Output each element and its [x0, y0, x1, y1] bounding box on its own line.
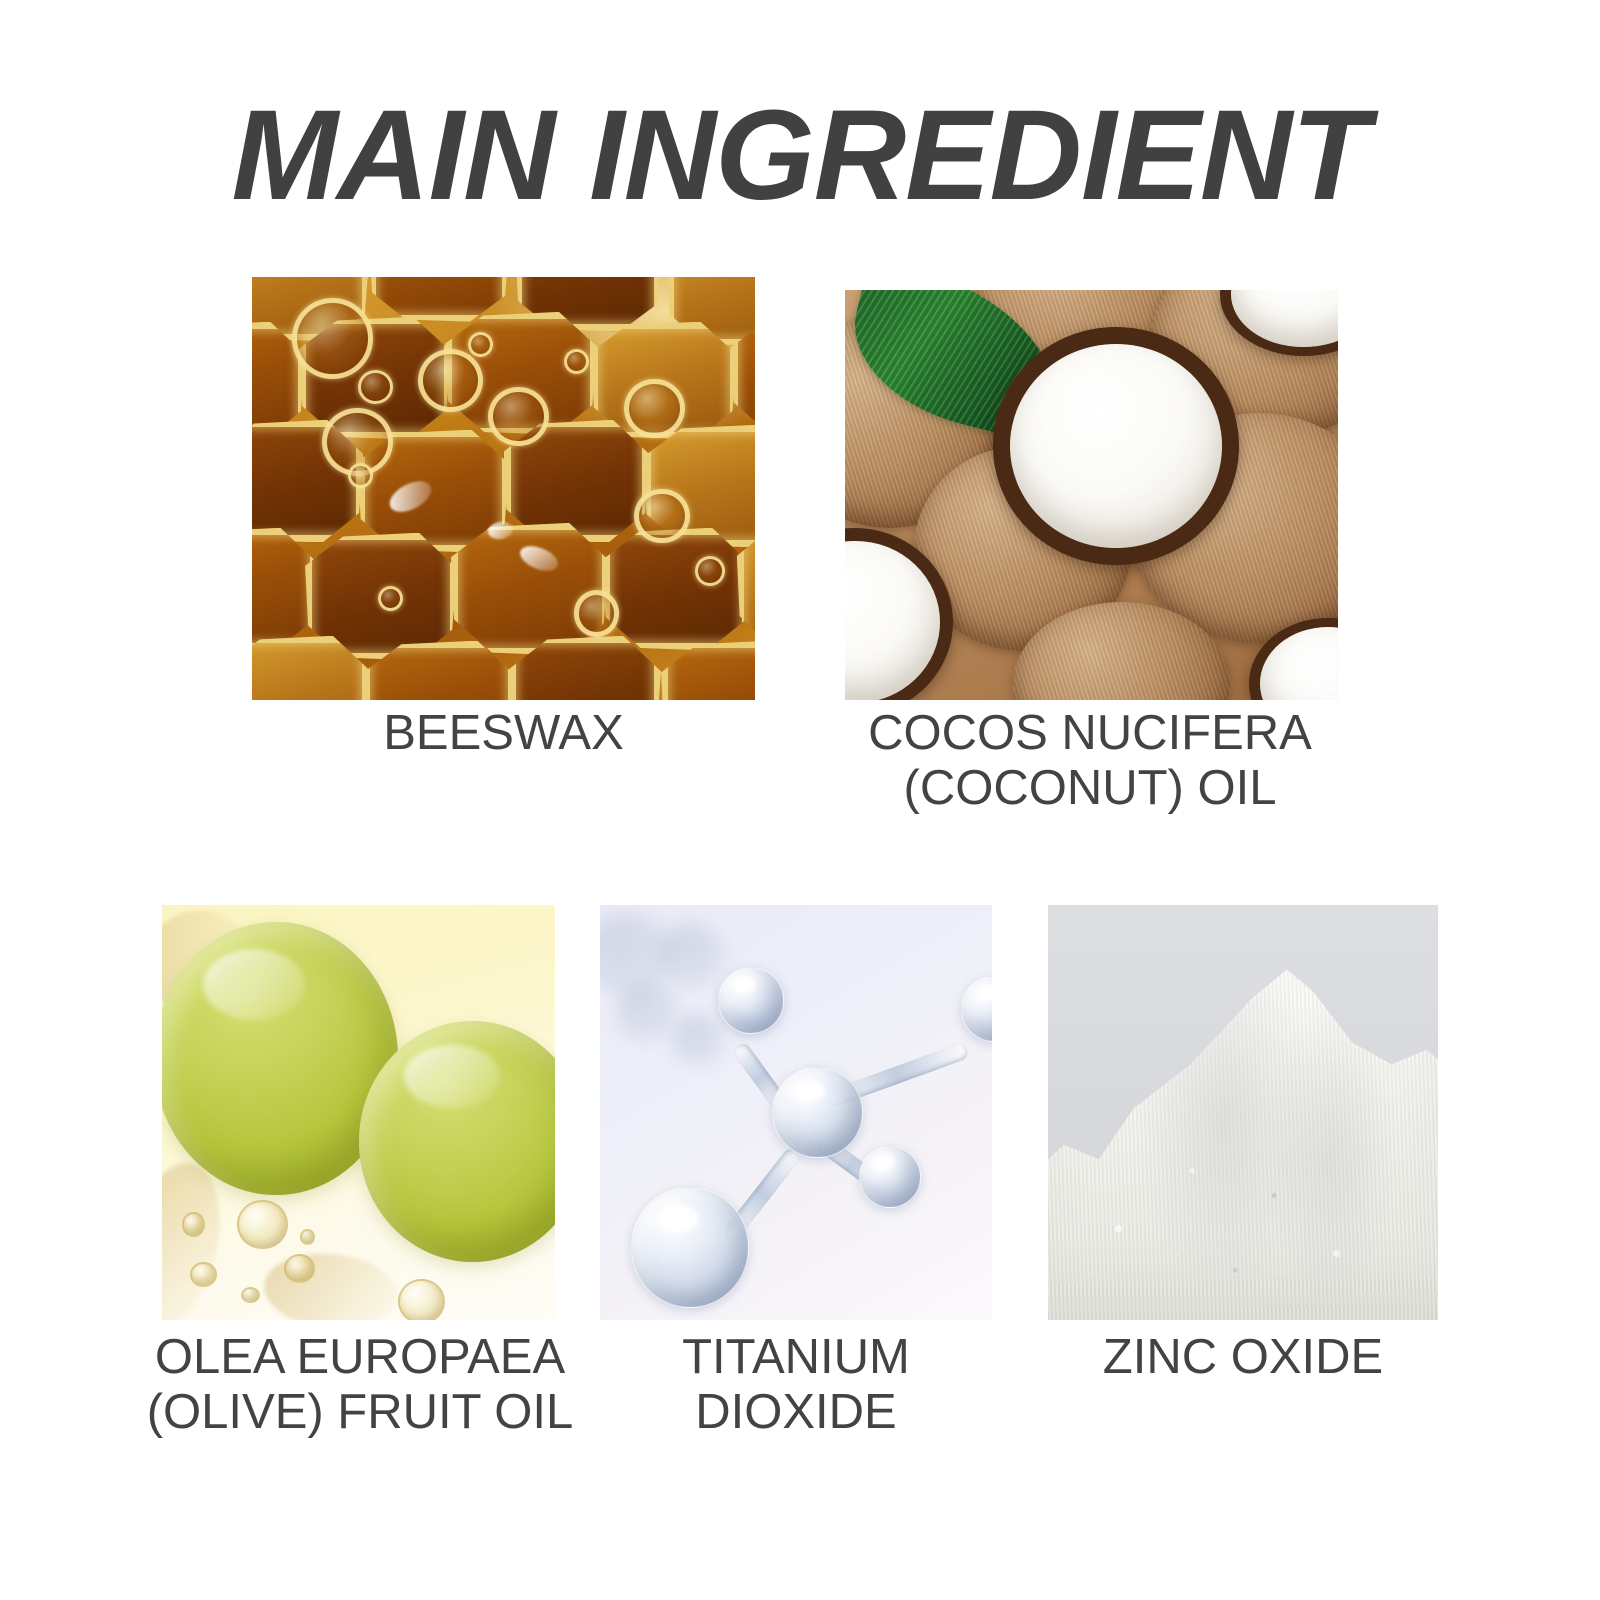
- label-line: OLEA EUROPAEA: [110, 1330, 610, 1385]
- ingredient-image-beeswax: [252, 277, 755, 700]
- label-line: BEESWAX: [252, 706, 755, 761]
- ingredient-label-titanium: TITANIUM DIOXIDE: [600, 1330, 992, 1440]
- label-line: (COCONUT) OIL: [790, 761, 1390, 816]
- molecule-atom-center: [772, 1067, 862, 1158]
- ingredient-image-titanium: [600, 905, 992, 1320]
- ingredient-image-olive: [162, 905, 555, 1320]
- label-line: TITANIUM: [600, 1330, 992, 1385]
- molecule-atom: [631, 1187, 749, 1307]
- ingredient-image-coconut: [845, 290, 1338, 700]
- label-line: DIOXIDE: [600, 1385, 992, 1440]
- molecule-atom: [859, 1146, 922, 1208]
- powder-grain-texture: [1048, 905, 1438, 1320]
- label-line: (OLIVE) FRUIT OIL: [110, 1385, 610, 1440]
- coconut-open-half: [993, 327, 1240, 565]
- ingredient-label-olive: OLEA EUROPAEA (OLIVE) FRUIT OIL: [110, 1330, 610, 1440]
- molecule-atom: [718, 967, 785, 1033]
- label-line: ZINC OXIDE: [1020, 1330, 1466, 1385]
- ingredient-image-zinc: [1048, 905, 1438, 1320]
- page-title: MAIN INGREDIENT: [0, 92, 1600, 220]
- ingredient-label-beeswax: BEESWAX: [252, 706, 755, 761]
- label-line: COCOS NUCIFERA: [790, 706, 1390, 761]
- ingredient-label-zinc: ZINC OXIDE: [1020, 1330, 1466, 1385]
- ingredient-label-coconut: COCOS NUCIFERA (COCONUT) OIL: [790, 706, 1390, 816]
